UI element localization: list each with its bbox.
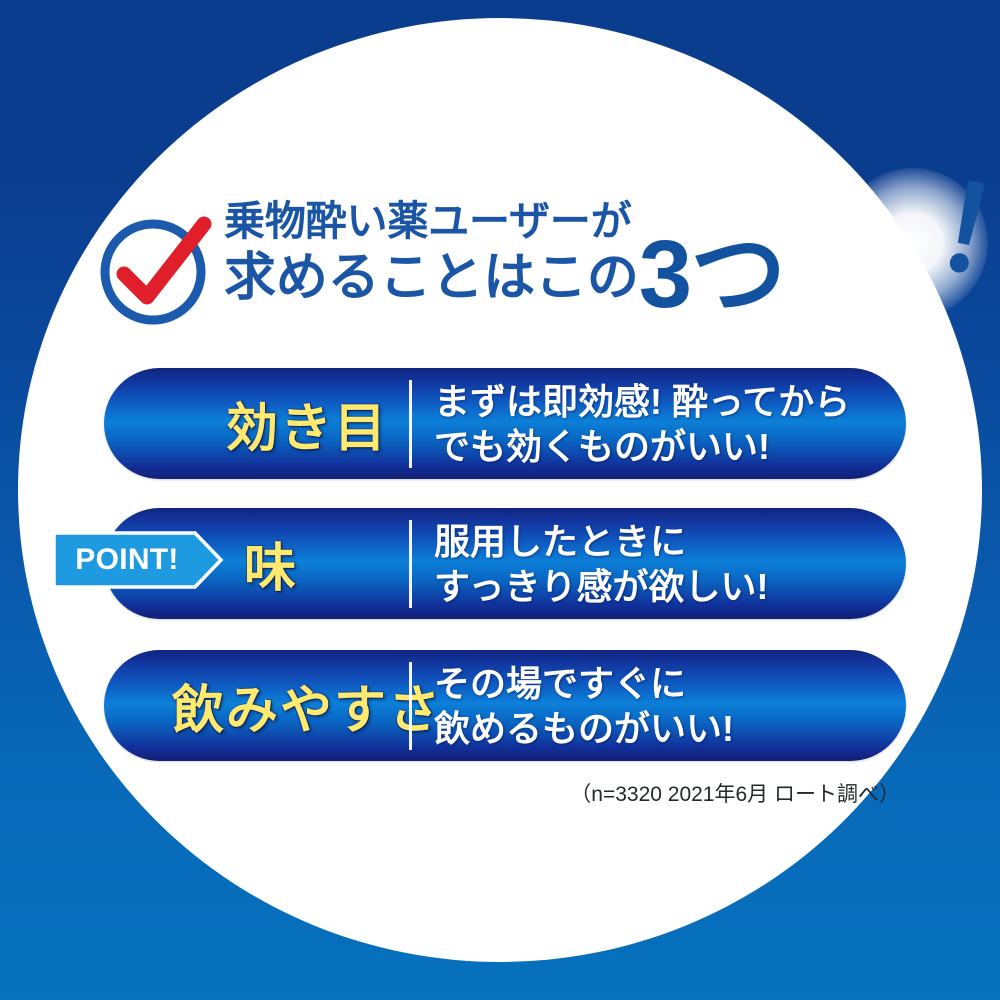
feature-description-line-1: 服用したときに [434, 519, 769, 564]
headline-text: 乗物酔い薬ユーザーが 求めることはこの3つ ！ [224, 196, 924, 309]
headline-line-2-prefix: 求めることはこの [224, 249, 639, 307]
point-badge-label: POINT! [52, 531, 202, 589]
row-divider [409, 380, 412, 468]
row-divider [409, 520, 412, 608]
feature-row: 効き目 まずは即効感! 酔ってから でも効くものがいい! [104, 368, 906, 479]
headline-line-1: 乗物酔い薬ユーザーが [224, 196, 924, 246]
feature-row: 飲みやすさ その場ですぐに 飲めるものがいい! [104, 650, 906, 761]
row-divider [409, 662, 412, 750]
feature-description-line-2: 飲めるものがいい! [434, 706, 734, 751]
feature-description-line-2: でも効くものがいい! [434, 424, 850, 469]
feature-row: 味 服用したときに すっきり感が欲しい! [104, 508, 906, 619]
survey-footnote: （n=3320 2021年6月 ロート調べ） [540, 778, 900, 808]
promo-banner: 乗物酔い薬ユーザーが 求めることはこの3つ ！ 効き目 まずは即効感! 酔ってか… [0, 0, 1000, 1000]
content-layer: 乗物酔い薬ユーザーが 求めることはこの3つ ！ 効き目 まずは即効感! 酔ってか… [0, 0, 1000, 1000]
feature-description: 服用したときに すっきり感が欲しい! [434, 508, 769, 619]
feature-description-line-1: その場ですぐに [434, 661, 734, 706]
feature-description: まずは即効感! 酔ってから でも効くものがいい! [434, 368, 850, 479]
point-badge: POINT! [52, 531, 224, 589]
feature-description-line-2: すっきり感が欲しい! [434, 564, 769, 609]
headline-exclamation: ！ [925, 167, 1000, 307]
headline-line-2: 求めることはこの3つ ！ [224, 244, 924, 309]
headline-number: 3つ [639, 221, 785, 328]
check-circle-icon [96, 210, 214, 328]
feature-description-line-1: まずは即効感! 酔ってから [434, 379, 850, 424]
feature-description: その場ですぐに 飲めるものがいい! [434, 650, 734, 761]
headline: 乗物酔い薬ユーザーが 求めることはこの3つ ！ [96, 196, 926, 336]
